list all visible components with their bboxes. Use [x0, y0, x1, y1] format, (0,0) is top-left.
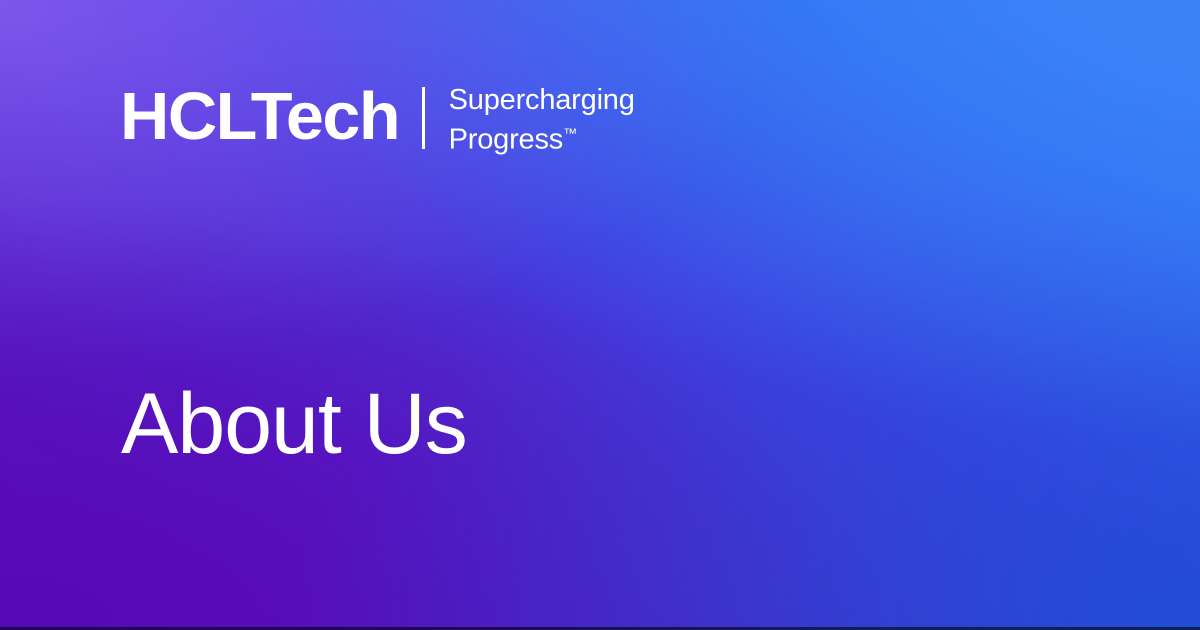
logo-wordmark: HCLTech	[120, 82, 399, 152]
trademark-icon: ™	[563, 125, 577, 141]
tagline-line-1: Supercharging	[449, 84, 635, 117]
page-title: About Us	[121, 376, 467, 472]
tagline-line-2-wrapper: Progress™	[449, 117, 635, 157]
hcltech-logo[interactable]: HCLTech Supercharging Progress™	[120, 82, 635, 157]
banner-content: HCLTech Supercharging Progress™ About Us	[0, 0, 1200, 630]
logo-tagline: Supercharging Progress™	[449, 82, 635, 157]
logo-divider	[422, 87, 425, 149]
brand-banner: HCLTech Supercharging Progress™ About Us	[0, 0, 1200, 630]
tagline-line-2: Progress	[449, 124, 563, 156]
